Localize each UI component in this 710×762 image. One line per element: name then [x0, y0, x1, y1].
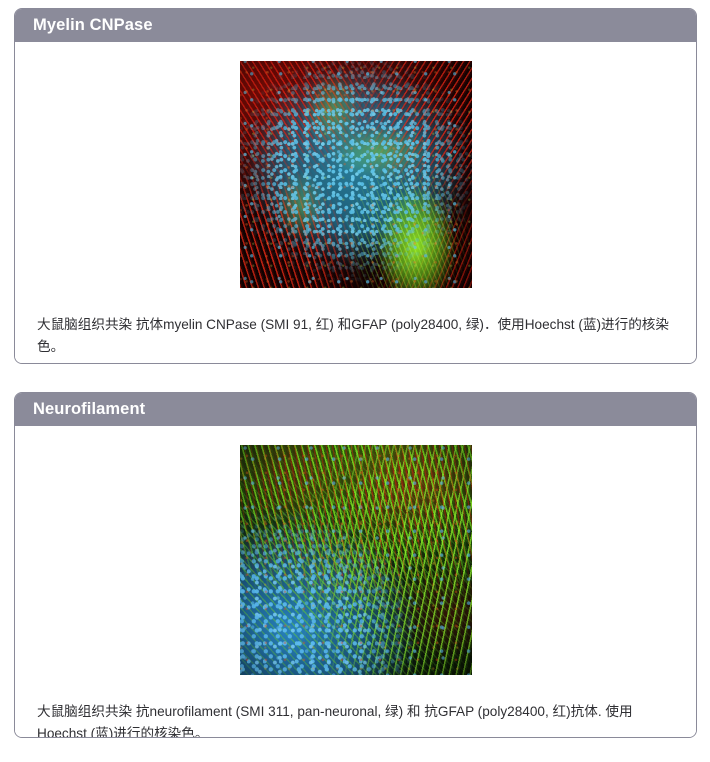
panel-caption-myelin-cnpase: 大鼠脑组织共染 抗体myelin CNPase (SMI 91, 红) 和GFA… [15, 302, 696, 364]
figure-wrap-myelin-cnpase [15, 42, 696, 288]
micrograph-layer-vignette [240, 61, 472, 288]
panel-caption-neurofilament: 大鼠脑组织共染 抗neurofilament (SMI 311, pan-neu… [15, 689, 696, 738]
panel-body-myelin-cnpase: 大鼠脑组织共染 抗体myelin CNPase (SMI 91, 红) 和GFA… [15, 42, 696, 364]
panel-header-neurofilament: Neurofilament [15, 393, 696, 426]
micrograph-layer-vignette [240, 445, 472, 675]
panel-title-myelin-cnpase: Myelin CNPase [33, 17, 153, 34]
panel-title-neurofilament: Neurofilament [33, 401, 145, 418]
micrograph-image-myelin-cnpase[interactable] [240, 61, 472, 288]
micrograph-image-neurofilament[interactable] [240, 445, 472, 675]
panel-card-neurofilament: Neurofilament 大鼠脑组织共染 抗neurofilament (SM… [14, 392, 697, 738]
panel-card-myelin-cnpase: Myelin CNPase 大鼠脑组织共染 抗体myelin [14, 8, 697, 364]
page-root: Myelin CNPase 大鼠脑组织共染 抗体myelin [0, 0, 710, 762]
figure-wrap-neurofilament [15, 426, 696, 675]
panel-header-myelin-cnpase: Myelin CNPase [15, 9, 696, 42]
panel-body-neurofilament: 大鼠脑组织共染 抗neurofilament (SMI 311, pan-neu… [15, 426, 696, 738]
